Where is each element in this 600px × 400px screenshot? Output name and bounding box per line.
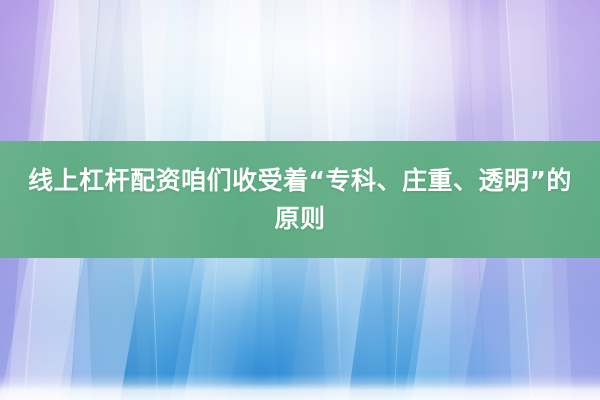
caption-band: 线上杠杆配资咱们收受着“专科、庄重、透明”的原则 <box>0 141 600 258</box>
watermark: ··· <box>268 384 332 397</box>
caption-text: 线上杠杆配资咱们收受着“专科、庄重、透明”的原则 <box>20 162 580 238</box>
banner-image: ··· 线上杠杆配资咱们收受着“专科、庄重、透明”的原则 <box>0 0 600 400</box>
top-white-haze <box>0 0 600 150</box>
